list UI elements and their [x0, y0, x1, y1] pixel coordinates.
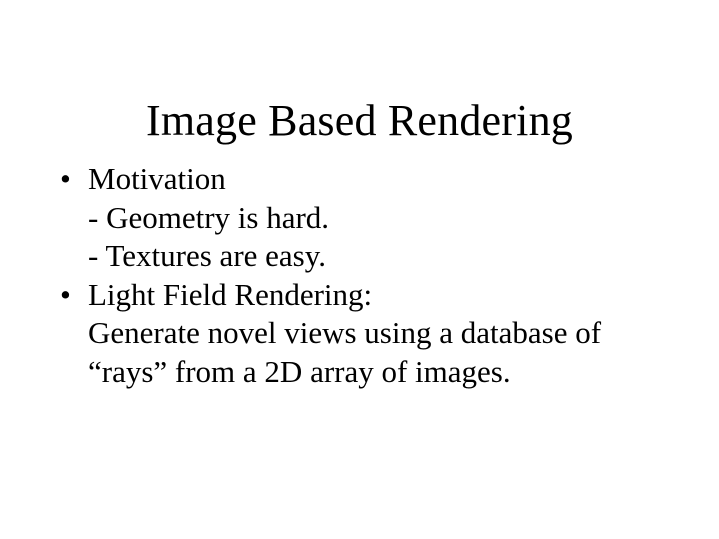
slide-body: • Motivation - Geometry is hard. - Textu…	[56, 160, 676, 391]
bullet-group: • Motivation - Geometry is hard. - Textu…	[56, 160, 676, 276]
sub-line: “rays” from a 2D array of images.	[56, 353, 676, 392]
slide-canvas: Image Based Rendering • Motivation - Geo…	[0, 0, 719, 539]
bullet-point-icon: •	[60, 276, 84, 315]
sub-line: Generate novel views using a database of	[56, 314, 676, 353]
page-title: Image Based Rendering	[0, 95, 719, 147]
bullet-group: • Light Field Rendering: Generate novel …	[56, 276, 676, 392]
bullet-point-icon: •	[60, 160, 84, 199]
sub-line: - Textures are easy.	[56, 237, 676, 276]
bullet-item-light-field-rendering: • Light Field Rendering:	[56, 276, 676, 315]
bullet-item-motivation: • Motivation	[56, 160, 676, 199]
bullet-item-label: Motivation	[88, 161, 226, 196]
bullet-item-label: Light Field Rendering:	[88, 277, 372, 312]
sub-line: - Geometry is hard.	[56, 199, 676, 238]
